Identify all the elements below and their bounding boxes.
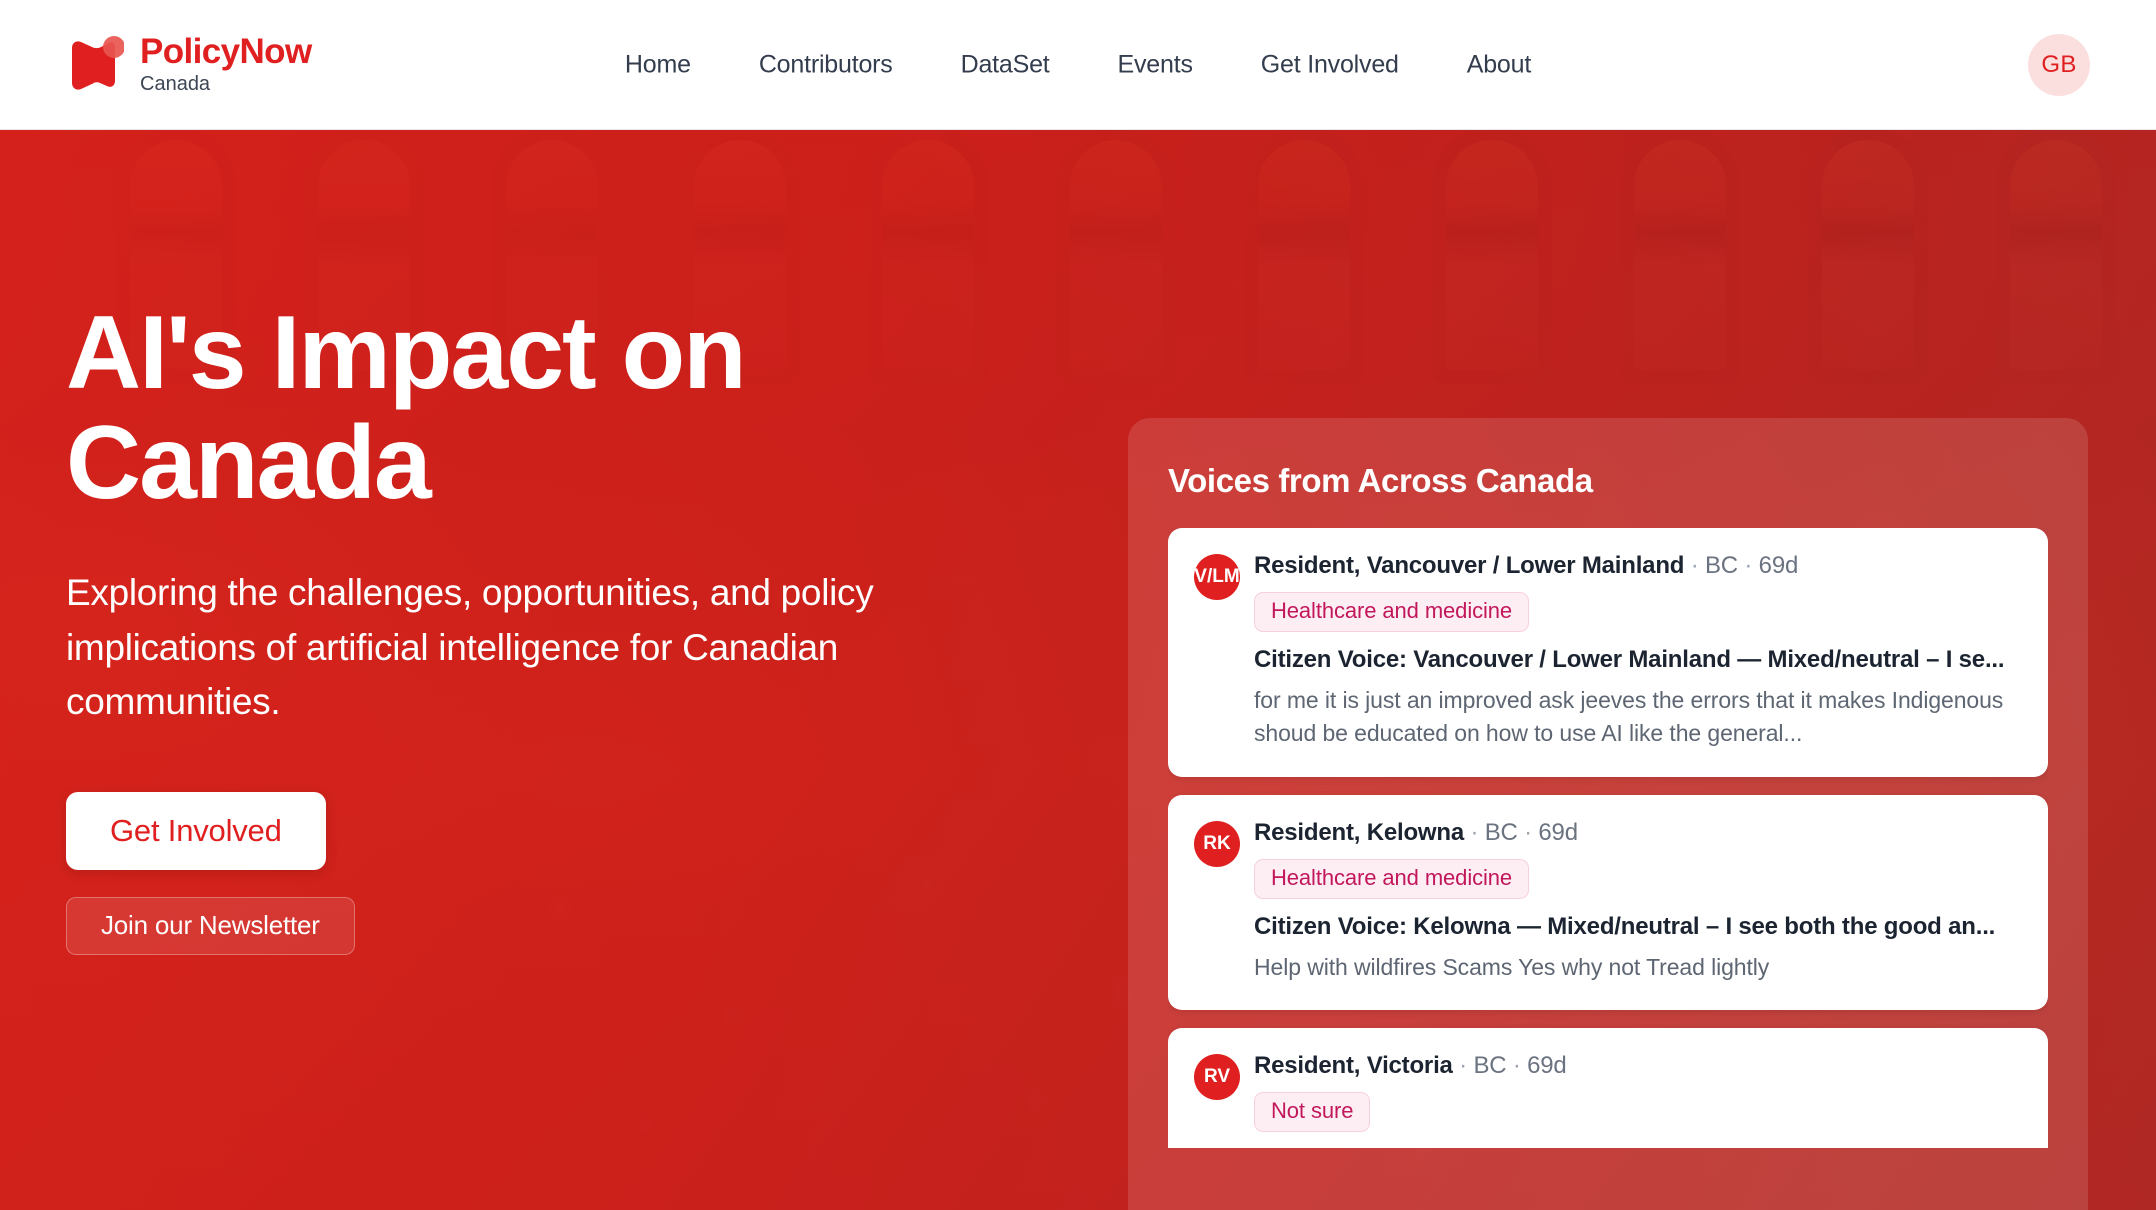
nav-item-get-involved[interactable]: Get Involved <box>1261 50 1399 79</box>
hero-actions: Get Involved Join our Newsletter <box>66 792 1126 955</box>
voices-panel: Voices from Across Canada V/LM Resident,… <box>1128 418 2088 1210</box>
list-item[interactable]: RK Resident, Kelowna · BC · 69d Healthca… <box>1168 795 2048 1010</box>
nav-item-dataset[interactable]: DataSet <box>961 50 1050 79</box>
voice-title: Citizen Voice: Vancouver / Lower Mainlan… <box>1254 646 2022 674</box>
voice-meta: Resident, Kelowna · BC · 69d <box>1254 819 2022 847</box>
voice-region: BC <box>1705 552 1738 579</box>
status-badge: Not sure <box>1254 1092 1370 1132</box>
hero-subtitle: Exploring the challenges, opportunities,… <box>66 566 1016 729</box>
voices-panel-title: Voices from Across Canada <box>1168 462 2048 500</box>
voice-title: Citizen Voice: Kelowna — Mixed/neutral –… <box>1254 913 2022 941</box>
voice-snippet: Help with wildfires Scams Yes why not Tr… <box>1254 951 2022 984</box>
voice-age: 69d <box>1538 819 1577 846</box>
list-item[interactable]: V/LM Resident, Vancouver / Lower Mainlan… <box>1168 528 2048 777</box>
nav-item-about[interactable]: About <box>1467 50 1531 79</box>
nav-item-events[interactable]: Events <box>1118 50 1193 79</box>
voice-meta: Resident, Vancouver / Lower Mainland · B… <box>1254 552 2022 580</box>
avatar: RV <box>1194 1054 1240 1100</box>
user-avatar[interactable]: GB <box>2028 34 2090 96</box>
brand-name: PolicyNow <box>140 34 312 71</box>
join-newsletter-button[interactable]: Join our Newsletter <box>66 897 355 955</box>
nav-item-contributors[interactable]: Contributors <box>759 50 893 79</box>
voice-author: Resident, Vancouver / Lower Mainland <box>1254 552 1684 579</box>
voice-author: Resident, Victoria <box>1254 1052 1453 1079</box>
top-navigation-bar: PolicyNow Canada Home Contributors DataS… <box>0 0 2156 130</box>
hero-content: AI's Impact on Canada Exploring the chal… <box>66 130 1126 1210</box>
voice-meta: Resident, Victoria · BC · 69d <box>1254 1052 2022 1080</box>
voices-list[interactable]: V/LM Resident, Vancouver / Lower Mainlan… <box>1168 528 2048 1148</box>
status-badge: Healthcare and medicine <box>1254 859 1529 899</box>
page-title: AI's Impact on Canada <box>66 298 966 518</box>
get-involved-button[interactable]: Get Involved <box>66 792 326 870</box>
nav-item-home[interactable]: Home <box>625 50 691 79</box>
voice-snippet: for me it is just an improved ask jeeves… <box>1254 684 2022 751</box>
hero-section: AI's Impact on Canada Exploring the chal… <box>0 130 2156 1210</box>
voice-title: Citizen Voice: Victoria — Mostly concern… <box>1254 1146 2022 1148</box>
voice-region: BC <box>1473 1052 1506 1079</box>
brand-logo-link[interactable]: PolicyNow Canada <box>68 34 312 96</box>
voice-age: 69d <box>1759 552 1798 579</box>
avatar: V/LM <box>1194 554 1240 600</box>
status-badge: Healthcare and medicine <box>1254 592 1529 632</box>
voice-author: Resident, Kelowna <box>1254 819 1464 846</box>
nav-links: Home Contributors DataSet Events Get Inv… <box>625 50 1531 79</box>
list-item[interactable]: RV Resident, Victoria · BC · 69d Not sur… <box>1168 1028 2048 1148</box>
avatar: RK <box>1194 821 1240 867</box>
map-book-icon <box>68 34 124 96</box>
voice-region: BC <box>1485 819 1518 846</box>
brand-subtitle: Canada <box>140 73 312 95</box>
voice-age: 69d <box>1527 1052 1566 1079</box>
